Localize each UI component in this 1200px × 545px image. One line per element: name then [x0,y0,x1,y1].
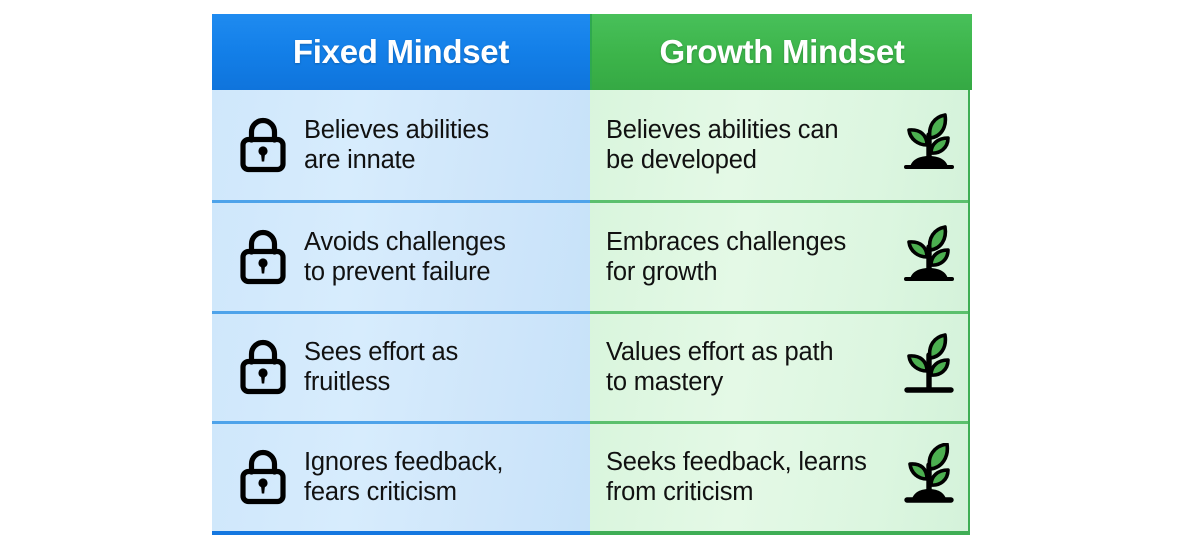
table-row: Avoids challenges to prevent failure [212,200,590,310]
sprout-icon [898,333,960,401]
table-row: Seeks feedback, learns from criticism [590,421,968,531]
column-header-growth-mindset: Growth Mindset [592,14,972,90]
table-row: Believes abilities can be developed [590,90,968,200]
lock-icon [234,226,292,288]
mindset-comparison-table: Fixed Mindset Growth Mindset Believes ab… [212,14,972,535]
sprout-icon [898,111,960,179]
column-header-growth-label: Growth Mindset [659,33,904,71]
cell-text: Values effort as path to mastery [606,337,896,397]
table-row: Ignores feedback, fears criticism [212,421,590,531]
column-growth-mindset: Believes abilities can be developed Embr… [590,90,970,535]
column-fixed-mindset: Believes abilities are innate Avoids cha… [212,90,592,535]
cell-text: Ignores feedback, fears criticism [304,447,590,507]
table-row: Embraces challenges for growth [590,200,968,310]
cell-text: Believes abilities are innate [304,115,590,175]
table-body: Believes abilities are innate Avoids cha… [212,90,972,535]
table-row: Values effort as path to mastery [590,311,968,421]
sprout-icon [898,223,960,291]
table-row: Sees effort as fruitless [212,311,590,421]
lock-icon [234,446,292,508]
sprout-icon [898,443,960,511]
cell-text: Avoids challenges to prevent failure [304,227,590,287]
table-row: Believes abilities are innate [212,90,590,200]
lock-icon [234,336,292,398]
cell-text: Embraces challenges for growth [606,227,896,287]
cell-text: Believes abilities can be developed [606,115,896,175]
column-header-fixed-mindset: Fixed Mindset [212,14,592,90]
infographic-canvas: Fixed Mindset Growth Mindset Believes ab… [0,0,1200,545]
lock-icon [234,114,292,176]
column-header-fixed-label: Fixed Mindset [293,33,509,71]
cell-text: Seeks feedback, learns from criticism [606,447,896,507]
table-header-row: Fixed Mindset Growth Mindset [212,14,972,90]
cell-text: Sees effort as fruitless [304,337,590,397]
